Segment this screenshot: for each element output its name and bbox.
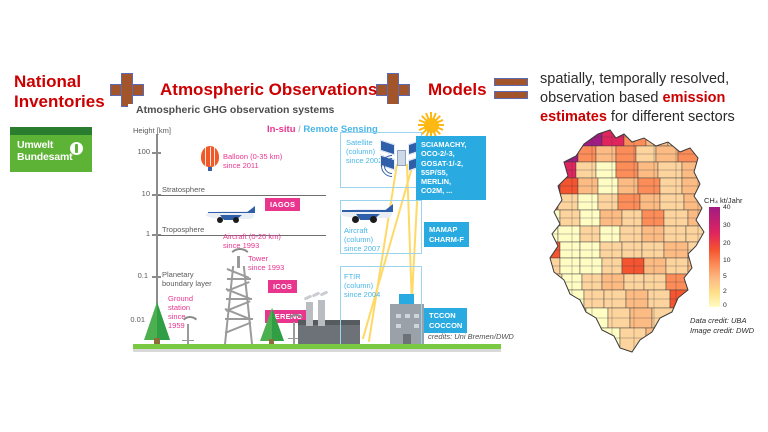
equals-bar-bottom [494,91,528,99]
y-tick-100 [152,152,161,154]
ftir-line3: since 2004 [344,290,380,299]
y-tick-label-1: 1 [130,229,150,238]
aircraft-insitu-annotation-line1: Aircraft (0-20 km) [223,232,281,241]
legend-tick-40: 40 [723,204,731,211]
pbl-label-line2: boundary layer [162,279,212,288]
result-line1: spatially, temporally resolved, [540,71,729,87]
ground-station-line2: station [168,303,190,312]
badge-tccon-label: TCCON [429,311,456,320]
result-statement: spatially, temporally resolved, observat… [540,70,768,127]
stratosphere-label: Stratosphere [162,185,205,194]
legend-tick-20: 20 [723,240,731,247]
legend-tick-0: 0 [723,302,727,309]
stratosphere-line [158,195,326,196]
y-tick-label-100: 100 [130,147,150,156]
badge-charmf-label: CHARM-F [429,235,464,244]
plus-bar-vertical [121,73,133,107]
legend-separator: / [298,124,301,135]
satellite-annotation-line1: Satellite [346,138,373,147]
germany-choropleth-map [540,128,710,356]
tree-icon-1 [144,302,170,346]
logo-top-bar [10,127,92,135]
badge-mamap-label: MAMAP [429,225,457,234]
image-credit: Image credit: DWD [690,326,754,336]
balloon-annotation-line1: Balloon (0-35 km) [223,152,282,161]
plus-bar-vertical [387,73,399,107]
umweltbundesamt-logo: Umwelt Bundesamt [10,127,92,172]
diagram-title: Atmospheric GHG observation systems [136,104,334,116]
ground-station-line1: Ground [168,294,193,303]
logo-line1: Umwelt [17,140,72,152]
ghg-observation-diagram: Atmospheric GHG observation systems Heig… [128,104,528,360]
y-tick-label-0.1: 0.1 [128,271,148,280]
badge-coccon-label: COCCON [429,321,462,330]
logo-text: Umwelt Bundesamt [17,140,72,163]
ftir-line1: FTIR [344,272,361,281]
legend-tick-2: 2 [723,288,727,295]
legend-tick-30: 30 [723,222,731,229]
plus-icon-2 [376,73,410,107]
ground-shadow [133,349,501,352]
pbl-label-line1: Planetary [162,270,194,279]
equals-bar-top [494,78,528,86]
aircraft-remote-icon [336,204,394,224]
result-estimates-bold: estimates [540,109,607,125]
equals-icon [494,78,528,100]
legend-insitu-label: In-situ [267,124,296,135]
logo-line2: Bundesamt [17,152,72,164]
troposphere-label: Troposphere [162,225,204,234]
result-line3-plain: for different sectors [607,109,735,125]
satellite-instruments-badge: SCIAMACHY,OCO-2/-3,GOSAT-1/-2,5SP/S5,MER… [416,136,486,200]
satellite-annotation-line3: since 2002 [346,156,382,165]
aircraft-remote-line3: since 2007 [344,244,380,253]
legend-tick-5: 5 [723,273,727,280]
legend-tick-10: 10 [723,257,731,264]
ground-station-icon-1 [178,316,198,346]
tower-annotation-line1: Tower [248,254,268,263]
tree-person-icon [70,142,83,155]
y-tick-label-10: 10 [130,189,150,198]
y-tick-label-0.01: 0.01 [125,315,145,324]
aircraft-remote-line2: (column) [344,235,373,244]
germany-emission-map-panel: CH₄ kt/Jahr 40 30 20 10 5 2 0 Data credi… [540,128,768,360]
tree-icon-2 [260,308,284,346]
badge-icos: ICOS [268,280,297,293]
data-credit: Data credit: UBA [690,316,754,326]
satellite-annotation-line2: (column) [346,147,375,156]
result-emission-bold: emission [663,90,726,106]
y-tick-0.1 [152,276,161,278]
result-line2-plain: observation based [540,90,663,106]
aircraft-remote-line1: Aircraft [344,226,368,235]
badge-tccon-coccon: TCCON COCCON [424,308,467,333]
map-credits: Data credit: UBA Image credit: DWD [690,316,754,336]
atmospheric-observations-title: Atmospheric Observations [160,80,377,100]
badge-mamap-charmf: MAMAP CHARM-F [424,222,469,247]
y-axis-caption: Height [km] [133,126,171,135]
diagram-credits: credits: Uni Bremen/DWD [428,332,514,341]
map-legend: CH₄ kt/Jahr 40 30 20 10 5 2 0 [704,196,768,314]
models-title: Models [428,80,487,100]
plus-icon-1 [110,73,144,107]
aircraft-insitu-icon [202,206,256,224]
badge-iagos: IAGOS [265,198,300,211]
legend-colorbar [709,207,720,307]
tower-annotation-line2: since 1993 [248,263,284,272]
ftir-line2: (column) [344,281,373,290]
balloon-basket [208,167,212,171]
infographic-root: National Inventories Umwelt Bundesamt At… [0,0,768,432]
balloon-annotation-line2: since 2011 [223,161,259,170]
weather-balloon-icon [201,146,219,172]
